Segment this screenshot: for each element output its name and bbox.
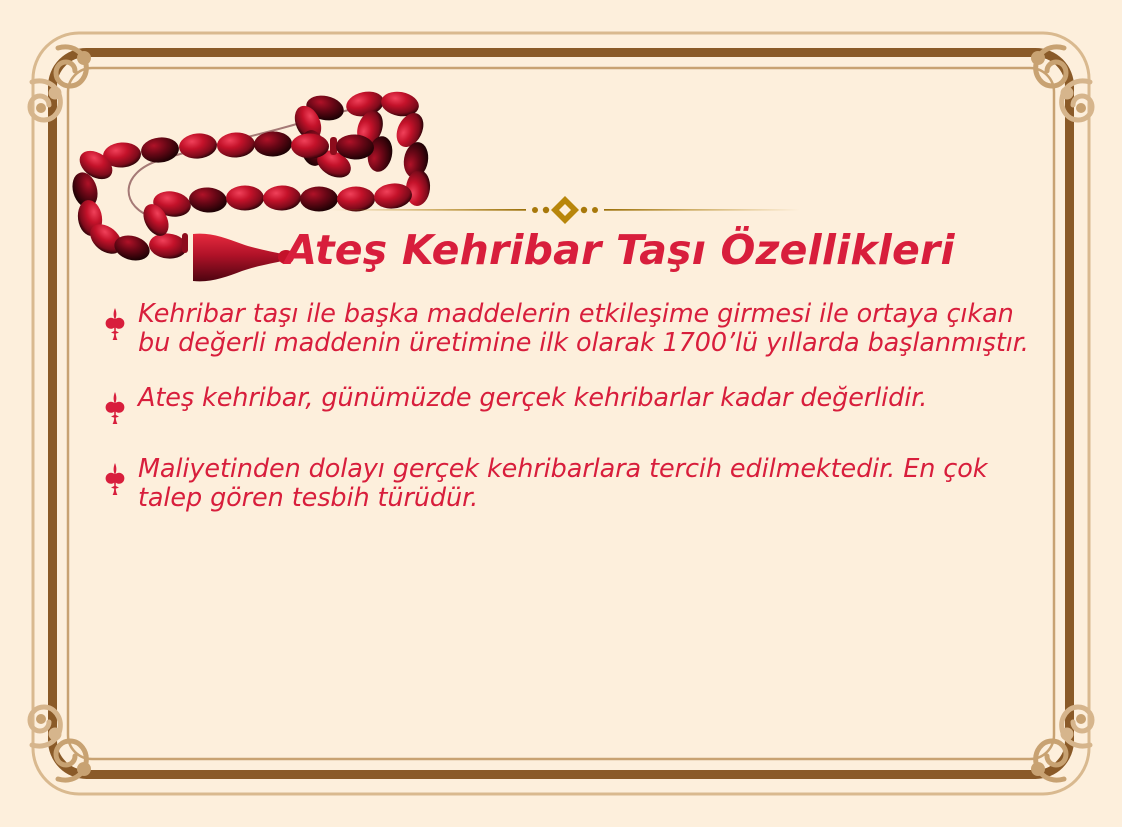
fleur-de-lis-icon bbox=[100, 307, 130, 341]
list-item: Maliyetinden dolayı gerçek kehribarlara … bbox=[100, 455, 1050, 513]
list-item-text: Kehribar taşı ile başka maddelerin etkil… bbox=[138, 300, 1043, 358]
list-item-text: Maliyetinden dolayı gerçek kehribarlara … bbox=[138, 455, 1043, 513]
list-item: Ateş kehribar, günümüzde gerçek kehribar… bbox=[100, 384, 1050, 425]
list-item: Kehribar taşı ile başka maddelerin etkil… bbox=[100, 300, 1050, 358]
divider-ornament bbox=[330, 192, 800, 228]
fleur-de-lis-icon bbox=[100, 462, 130, 496]
corner-ornament-bottom-left bbox=[30, 707, 91, 780]
page-title: Ateş Kehribar Taşı Özellikleri bbox=[0, 226, 1122, 274]
features-list: Kehribar taşı ile başka maddelerin etkil… bbox=[100, 300, 1050, 539]
info-card: Ateş Kehribar Taşı Özellikleri Kehribar … bbox=[0, 0, 1122, 827]
corner-ornament-bottom-right bbox=[1031, 707, 1092, 780]
corner-ornament-top-right bbox=[1031, 47, 1092, 120]
fleur-de-lis-icon bbox=[100, 391, 130, 425]
list-item-text: Ateş kehribar, günümüzde gerçek kehribar… bbox=[138, 384, 1018, 413]
